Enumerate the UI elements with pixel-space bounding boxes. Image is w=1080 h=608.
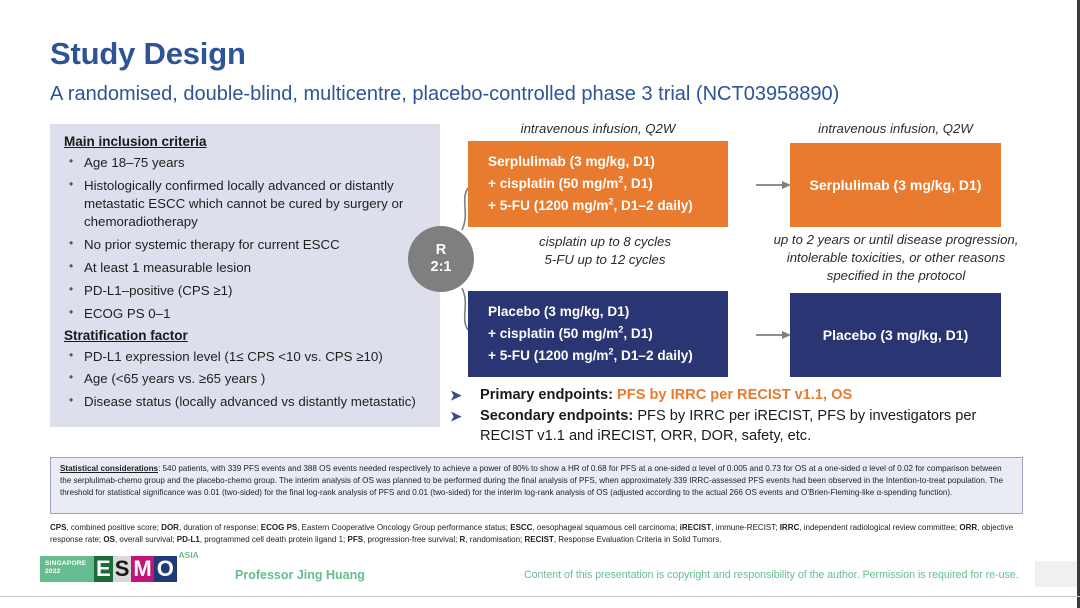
cycles-note-line1: cisplatin up to 8 cycles: [480, 233, 730, 251]
page-subtitle: A randomised, double-blind, multicentre,…: [50, 83, 839, 106]
abbreviations-footnote: CPS, combined positive score; DOR, durat…: [50, 522, 1025, 546]
presenter-name: Professor Jing Huang: [235, 568, 365, 582]
chemo-cycles-note: cisplatin up to 8 cycles 5-FU up to 12 c…: [480, 233, 730, 270]
primary-endpoints-row: ➤ Primary endpoints: PFS by IRRC per REC…: [448, 386, 1018, 405]
logo-letter-e: E: [94, 556, 113, 582]
inclusion-criteria-heading: Main inclusion criteria: [64, 134, 428, 149]
arrow-bullet-icon: ➤: [450, 386, 462, 405]
inclusion-criteria-panel: Main inclusion criteria Age 18–75 years …: [50, 124, 440, 427]
duration-note-line2: intolerable toxicities, or other reasons: [762, 249, 1030, 267]
secondary-endpoints-row: ➤ Secondary endpoints: PFS by IRRC per i…: [448, 407, 1018, 446]
control-arm-box: Placebo (3 mg/kg, D1) + cisplatin (50 mg…: [468, 291, 728, 377]
primary-endpoints-value: PFS by IRRC per RECIST v1.1, OS: [617, 387, 852, 403]
list-item: Age 18–75 years: [64, 154, 428, 172]
experimental-maintenance-line: Serplulimab (3 mg/kg, D1): [810, 174, 982, 197]
statistical-considerations-heading: Statistical considerations: [60, 464, 158, 473]
list-item: Disease status (locally advanced vs dist…: [64, 393, 428, 411]
stratification-factor-heading: Stratification factor: [64, 328, 428, 343]
experimental-arm-route-label: intravenous infusion, Q2W: [468, 120, 728, 137]
randomisation-letter: R: [436, 242, 446, 259]
statistical-considerations-box: Statistical considerations: 540 patients…: [50, 457, 1023, 514]
control-5fu-line: + 5-FU (1200 mg/m2, D1–2 daily): [488, 345, 728, 367]
arrow-bullet-icon: ➤: [450, 407, 462, 426]
secondary-endpoints-label: Secondary endpoints:: [480, 408, 637, 424]
esmo-wordmark: ESMO ASIA: [94, 556, 177, 582]
randomisation-circle: R 2:1: [408, 226, 474, 292]
list-item: No prior systemic therapy for current ES…: [64, 236, 428, 254]
statistical-considerations-body: : 540 patients, with 339 PFS events and …: [60, 464, 1003, 497]
control-maintenance-line: Placebo (3 mg/kg, D1): [823, 324, 968, 347]
experimental-drug-line: Serplulimab (3 mg/kg, D1): [488, 151, 728, 173]
treatment-duration-note: up to 2 years or until disease progressi…: [762, 231, 1030, 286]
logo-year: 2022: [45, 568, 89, 576]
list-item: At least 1 measurable lesion: [64, 259, 428, 277]
endpoints-section: ➤ Primary endpoints: PFS by IRRC per REC…: [448, 386, 1018, 448]
randomisation-ratio: 2:1: [431, 259, 452, 276]
duration-note-line1: up to 2 years or until disease progressi…: [762, 231, 1030, 249]
inclusion-criteria-list: Age 18–75 years Histologically confirmed…: [64, 154, 428, 323]
list-item: Histologically confirmed locally advance…: [64, 177, 428, 231]
cycles-note-line2: 5-FU up to 12 cycles: [480, 251, 730, 269]
stratification-factor-list: PD-L1 expression level (1≤ CPS <10 vs. C…: [64, 348, 428, 412]
footer-divider: [0, 596, 1080, 597]
duration-note-line3: specified in the protocol: [762, 267, 1030, 285]
list-item: PD-L1 expression level (1≤ CPS <10 vs. C…: [64, 348, 428, 366]
list-item: PD-L1–positive (CPS ≥1): [64, 282, 428, 300]
logo-letter-m: M: [131, 556, 153, 582]
primary-endpoints-label: Primary endpoints:: [480, 387, 617, 403]
corner-watermark: [1035, 561, 1077, 587]
experimental-arm-box: Serplulimab (3 mg/kg, D1) + cisplatin (5…: [468, 141, 728, 227]
statistical-considerations-text: Statistical considerations: 540 patients…: [60, 463, 1014, 498]
control-cisplatin-line: + cisplatin (50 mg/m2, D1): [488, 323, 728, 345]
experimental-5fu-line: + 5-FU (1200 mg/m2, D1–2 daily): [488, 195, 728, 217]
list-item: Age (<65 years vs. ≥65 years ): [64, 370, 428, 388]
control-maintenance-box: Placebo (3 mg/kg, D1): [790, 293, 1001, 377]
copyright-notice: Content of this presentation is copyrigh…: [524, 569, 1019, 581]
logo-asia-text: ASIA: [179, 551, 199, 560]
list-item: ECOG PS 0–1: [64, 305, 428, 323]
singapore-2022-badge: SINGAPORE 2022: [40, 556, 94, 582]
control-drug-line: Placebo (3 mg/kg, D1): [488, 301, 728, 323]
slide-canvas: Study Design A randomised, double-blind,…: [0, 0, 1080, 608]
logo-letter-s: S: [113, 556, 132, 582]
experimental-cisplatin-line: + cisplatin (50 mg/m2, D1): [488, 173, 728, 195]
experimental-maintenance-box: Serplulimab (3 mg/kg, D1): [790, 143, 1001, 227]
logo-letter-o: O: [154, 556, 177, 582]
page-title: Study Design: [50, 36, 246, 72]
maintenance-arm-route-label: intravenous infusion, Q2W: [790, 120, 1001, 137]
logo-city: SINGAPORE: [45, 560, 89, 568]
esmo-asia-logo: SINGAPORE 2022 ESMO ASIA: [40, 556, 177, 582]
